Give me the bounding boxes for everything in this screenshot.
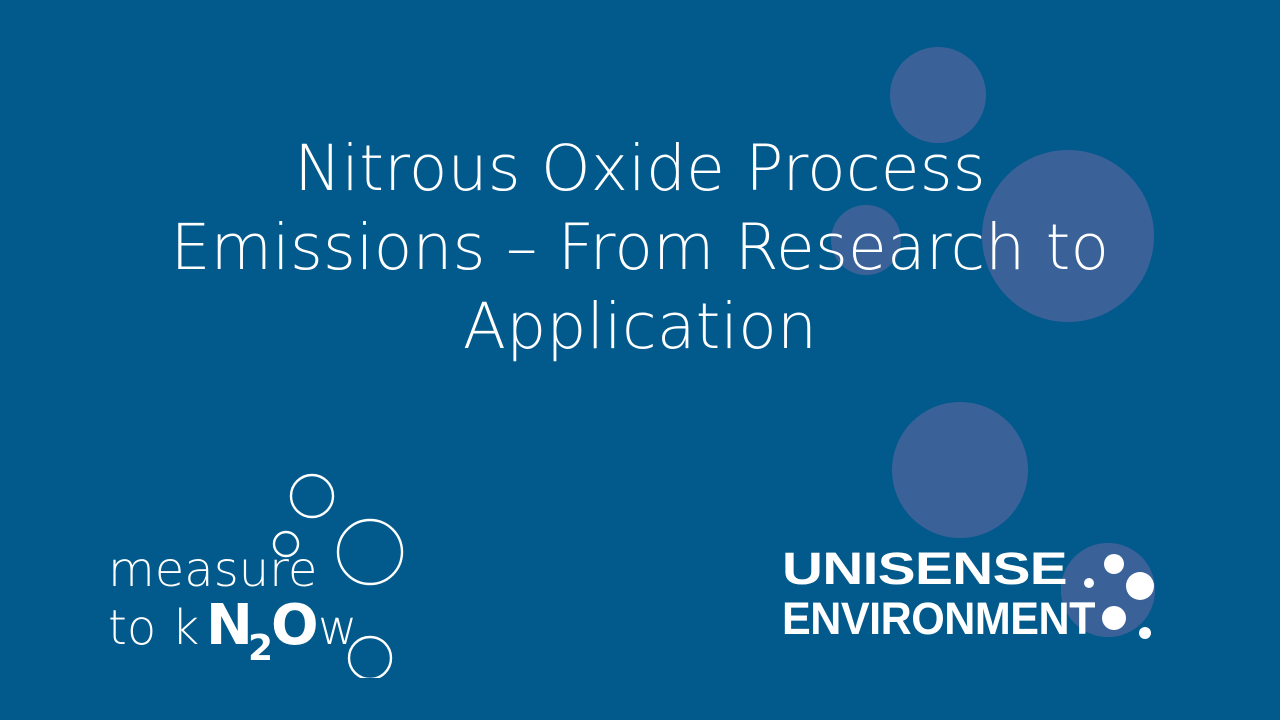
logo-unisense-environment: UNISENSE ENVIRONMENT bbox=[782, 536, 1162, 660]
logo-measure-to-know: measure to k N 2 O w bbox=[108, 468, 428, 678]
logo-formula-n: N bbox=[206, 593, 253, 658]
bubble-dot-icon bbox=[1126, 572, 1154, 600]
background-circle bbox=[892, 402, 1028, 538]
logo-formula-subscript-2: 2 bbox=[248, 628, 273, 669]
measure-to-know-mark: measure to k N 2 O w bbox=[108, 468, 428, 678]
logo-line-to-k: to k bbox=[108, 600, 199, 656]
bubble-dot-icon bbox=[1139, 627, 1151, 639]
bubble-dot-icon bbox=[1104, 554, 1124, 574]
bubble-icon bbox=[338, 520, 402, 584]
logo-formula-o: O bbox=[271, 593, 319, 658]
logo-line-measure: measure bbox=[108, 542, 317, 598]
logo-line-unisense: UNISENSE bbox=[782, 543, 1067, 594]
bubble-icon bbox=[291, 475, 333, 517]
bubble-dot-icon bbox=[1084, 578, 1094, 588]
title-block: Nitrous Oxide Process Emissions – From R… bbox=[90, 130, 1190, 366]
background-circle bbox=[890, 47, 986, 143]
page-title: Nitrous Oxide Process Emissions – From R… bbox=[90, 130, 1190, 366]
title-slide: Nitrous Oxide Process Emissions – From R… bbox=[0, 0, 1280, 720]
bubble-dot-icon bbox=[1102, 606, 1126, 630]
unisense-environment-mark: UNISENSE ENVIRONMENT bbox=[782, 536, 1162, 660]
logo-line-w: w bbox=[318, 600, 357, 656]
logo-line-environment: ENVIRONMENT bbox=[782, 593, 1095, 644]
